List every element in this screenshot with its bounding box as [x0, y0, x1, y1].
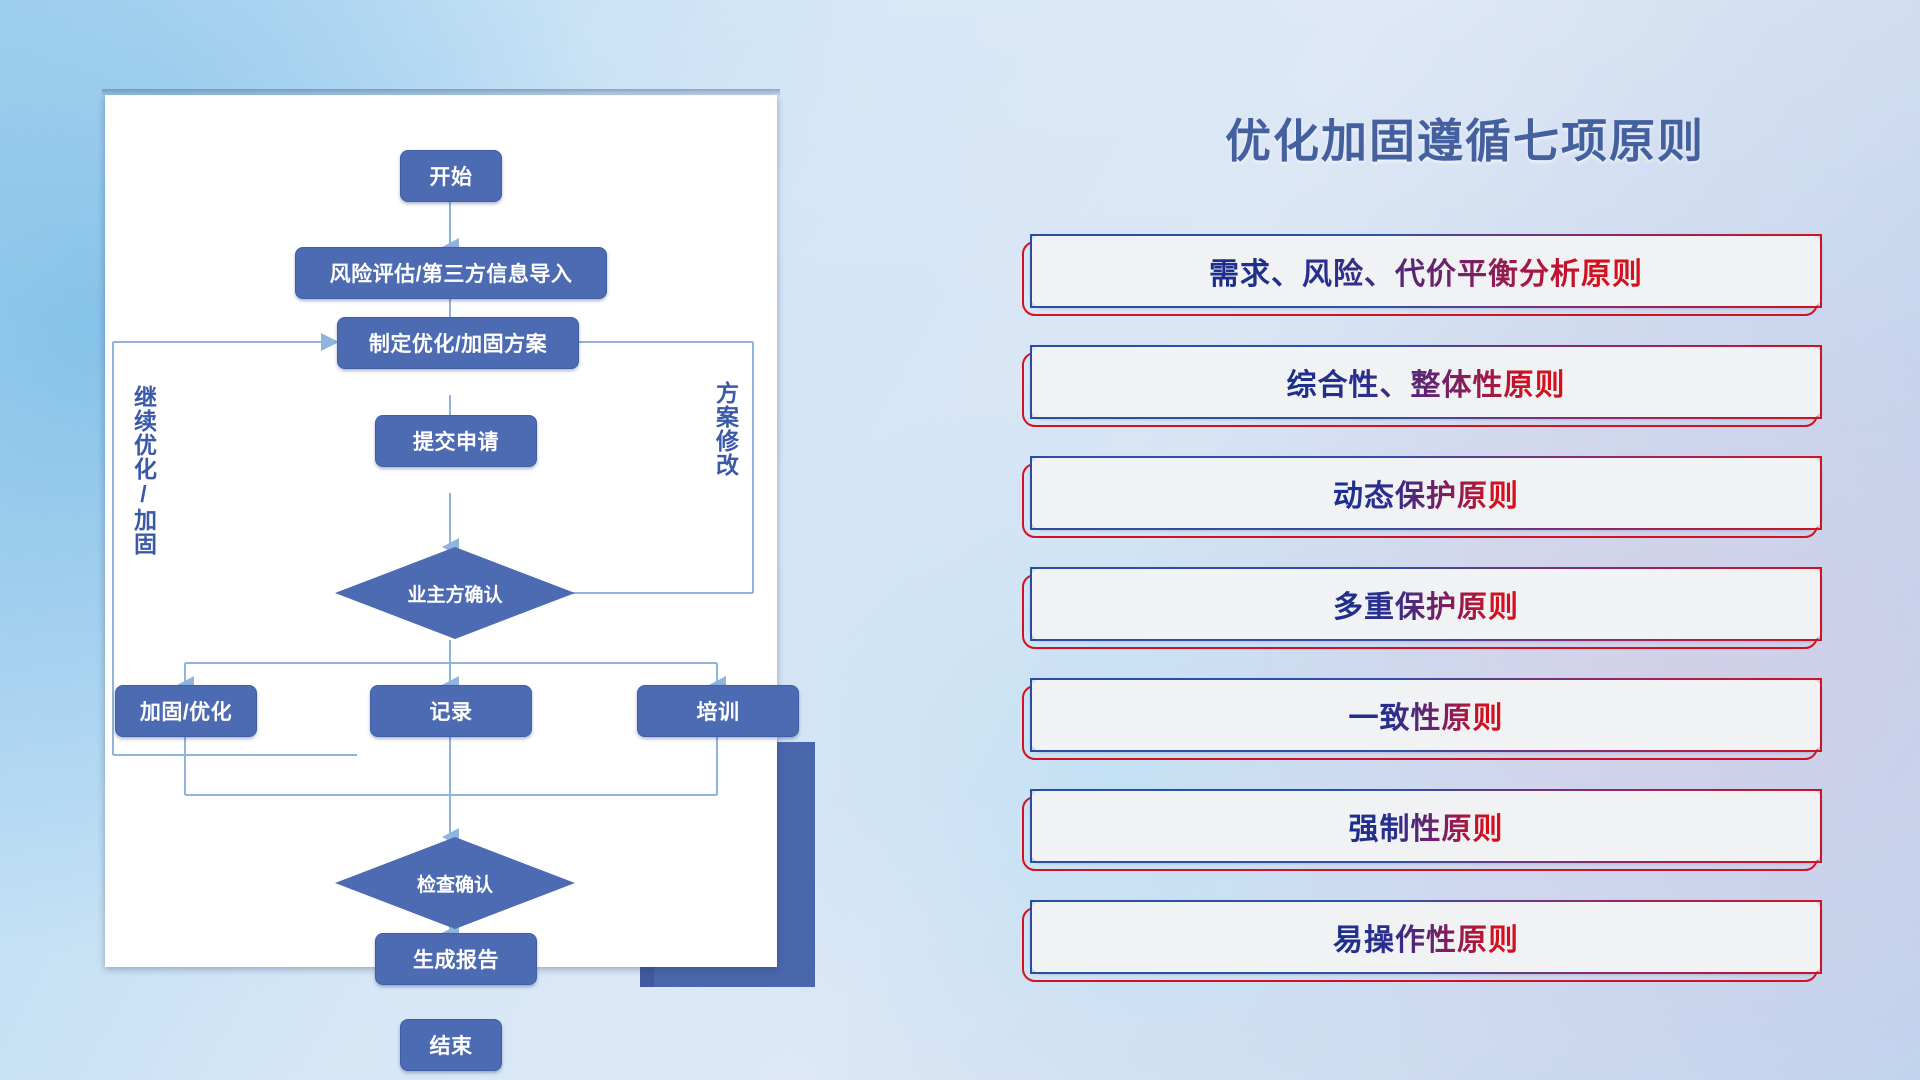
flow-node-label: 开始 [430, 161, 473, 191]
flow-node-label: 业主方确认 [407, 580, 502, 607]
flow-node-end[interactable]: 结束 [400, 1019, 502, 1071]
flow-node-check-confirm[interactable]: 检查确认 [335, 837, 575, 929]
principle-card[interactable]: 多重保护原则 [1030, 567, 1822, 641]
flow-node-submit-application[interactable]: 提交申请 [375, 415, 537, 467]
flow-node-label: 加固/优化 [140, 696, 232, 726]
principle-label: 综合性、整体性原则 [1287, 360, 1566, 404]
principle-item[interactable]: 多重保护原则 [1022, 567, 1822, 645]
principle-label: 易操作性原则 [1333, 915, 1519, 959]
principle-label: 一致性原则 [1349, 693, 1504, 737]
flow-node-label: 结束 [430, 1030, 473, 1060]
principle-item[interactable]: 易操作性原则 [1022, 900, 1822, 978]
flow-node-label: 制定优化/加固方案 [369, 328, 547, 358]
principle-item[interactable]: 动态保护原则 [1022, 456, 1822, 534]
flow-node-label: 风险评估/第三方信息导入 [330, 258, 573, 288]
flow-node-label: 提交申请 [413, 426, 499, 456]
flow-node-reinforce-optimize[interactable]: 加固/优化 [115, 685, 257, 737]
principle-item[interactable]: 综合性、整体性原则 [1022, 345, 1822, 423]
principle-label: 强制性原则 [1349, 804, 1504, 848]
flow-node-training[interactable]: 培训 [637, 685, 799, 737]
principle-card[interactable]: 需求、风险、代价平衡分析原则 [1030, 234, 1822, 308]
edge-label-plan-revision: 方案修改 [713, 381, 736, 477]
principle-item[interactable]: 一致性原则 [1022, 678, 1822, 756]
flow-node-generate-report[interactable]: 生成报告 [375, 933, 537, 985]
principle-card[interactable]: 动态保护原则 [1030, 456, 1822, 530]
flow-node-owner-confirm[interactable]: 业主方确认 [335, 547, 575, 639]
flow-node-start[interactable]: 开始 [400, 150, 502, 202]
principle-card[interactable]: 易操作性原则 [1030, 900, 1822, 974]
principles-title: 优化加固遵循七项原则 [1155, 105, 1775, 171]
principle-label: 多重保护原则 [1333, 582, 1519, 626]
flow-node-label: 生成报告 [413, 944, 499, 974]
principle-item[interactable]: 需求、风险、代价平衡分析原则 [1022, 234, 1822, 312]
principles-panel: 优化加固遵循七项原则 需求、风险、代价平衡分析原则 综合性、整体性原则 动态保护… [1010, 0, 1920, 1080]
flow-node-plan[interactable]: 制定优化/加固方案 [337, 317, 579, 369]
principle-label: 需求、风险、代价平衡分析原则 [1209, 249, 1643, 293]
flow-node-risk-assessment[interactable]: 风险评估/第三方信息导入 [295, 247, 607, 299]
flow-node-record[interactable]: 记录 [370, 685, 532, 737]
principle-card[interactable]: 综合性、整体性原则 [1030, 345, 1822, 419]
principle-card[interactable]: 强制性原则 [1030, 789, 1822, 863]
flowchart: 开始 风险评估/第三方信息导入 制定优化/加固方案 提交申请 业主方确认 加固/… [105, 95, 777, 967]
flow-node-label: 培训 [697, 696, 740, 726]
edge-label-continue-optimize: 继续优化/加固 [131, 385, 154, 556]
flow-node-label: 记录 [430, 696, 473, 726]
principle-label: 动态保护原则 [1333, 471, 1519, 515]
flow-node-label: 检查确认 [417, 870, 493, 897]
principle-card[interactable]: 一致性原则 [1030, 678, 1822, 752]
principle-item[interactable]: 强制性原则 [1022, 789, 1822, 867]
